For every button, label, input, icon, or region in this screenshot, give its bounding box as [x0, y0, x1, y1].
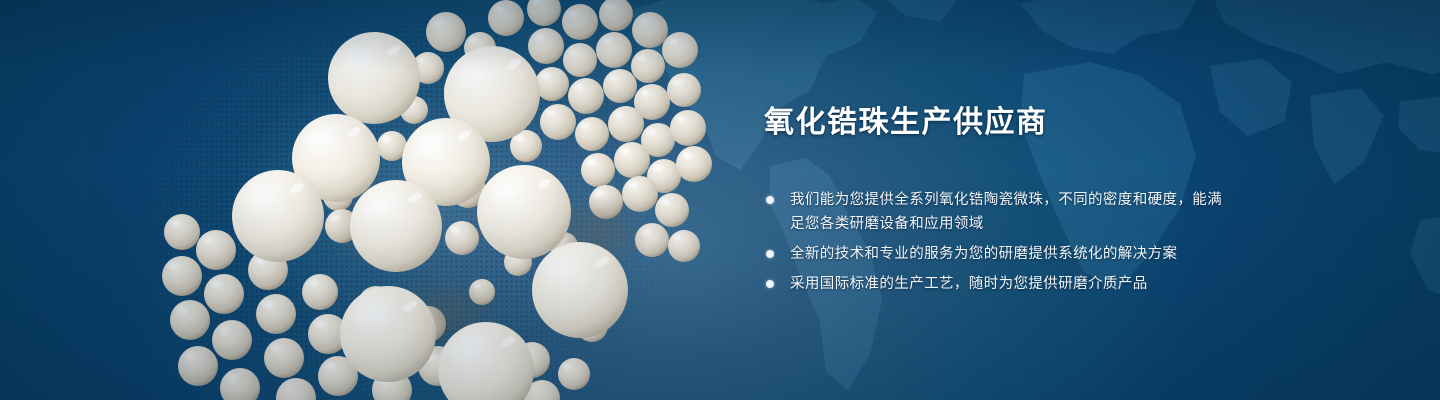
- bullet-item-2: 全新的技术和专业的服务为您的研磨提供系统化的解决方案: [764, 242, 1234, 266]
- banner-bullet-list: 我们能为您提供全系列氧化锆陶瓷微珠，不同的密度和硬度，能满足您各类研磨设备和应用…: [764, 188, 1234, 296]
- banner-headline: 氧化锆珠生产供应商: [764, 104, 1234, 142]
- bullet-dot-icon: [766, 196, 774, 204]
- bullet-text-3: 采用国际标准的生产工艺，随时为您提供研磨介质产品: [790, 272, 1234, 296]
- bullet-item-3: 采用国际标准的生产工艺，随时为您提供研磨介质产品: [764, 272, 1234, 296]
- bullet-text-1: 我们能为您提供全系列氧化锆陶瓷微珠，不同的密度和硬度，能满足您各类研磨设备和应用…: [790, 188, 1234, 236]
- bullet-item-1: 我们能为您提供全系列氧化锆陶瓷微珠，不同的密度和硬度，能满足您各类研磨设备和应用…: [764, 188, 1234, 236]
- bullet-dot-icon: [766, 250, 774, 258]
- bullet-text-2: 全新的技术和专业的服务为您的研磨提供系统化的解决方案: [790, 242, 1234, 266]
- bullet-dot-icon: [766, 280, 774, 288]
- banner-copy: 氧化锆珠生产供应商 我们能为您提供全系列氧化锆陶瓷微珠，不同的密度和硬度，能满足…: [764, 104, 1234, 296]
- hero-banner: 氧化锆珠生产供应商 我们能为您提供全系列氧化锆陶瓷微珠，不同的密度和硬度，能满足…: [0, 0, 1440, 400]
